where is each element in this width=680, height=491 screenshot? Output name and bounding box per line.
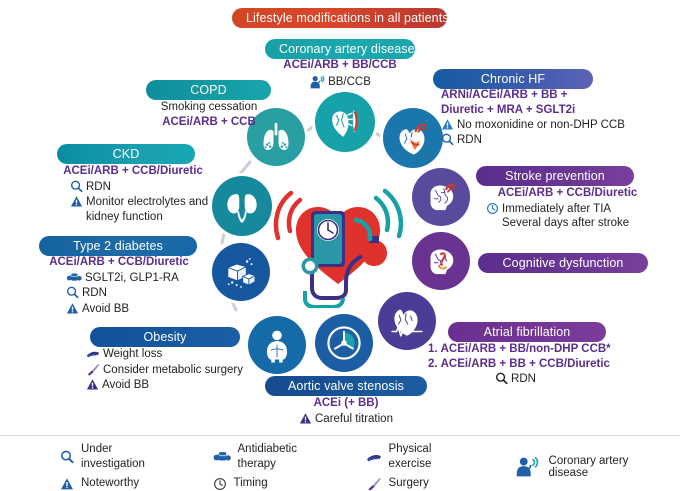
- heart-coronary-icon: [383, 108, 443, 168]
- block-atrial-fibrillation: 1. ACEi/ARB + BB/non-DHP CCB* 2. ACEi/AR…: [428, 342, 643, 387]
- ckd-note-2: Monitor electrolytes and kidney function: [86, 195, 216, 224]
- brain-cognitive-icon: [412, 232, 470, 290]
- pill-chronic-hf: Chronic HF: [433, 69, 593, 89]
- pill-cognitive-dysfunction: Cognitive dysfunction: [478, 253, 648, 273]
- block-stroke-prevention: ACEi/ARB + CCB/Diuretic Immediately afte…: [470, 186, 665, 231]
- cad-rx: ACEi/ARB + BB/CCB: [255, 58, 425, 73]
- obesity-note-3: Avoid BB: [102, 378, 149, 393]
- af-note-1: RDN: [511, 372, 536, 387]
- af-rx-2-number: 2.: [428, 357, 438, 372]
- avs-note-1: Careful titration: [315, 412, 393, 427]
- exercise-icon: [366, 450, 382, 464]
- t2d-rx: ACEi/ARB + CCB/Diuretic: [28, 255, 210, 270]
- aortic-valve-icon: [315, 314, 373, 372]
- cad-note-text: BB/CCB: [328, 75, 371, 90]
- pill-atrial-fibrillation: Atrial fibrillation: [448, 322, 606, 342]
- pill-aortic-valve-stenosis: Aortic valve stenosis: [265, 376, 427, 396]
- legend-label: Antidiabetic therapy: [238, 442, 338, 472]
- legend-item-antidiabetic-therapy: Antidiabetic therapy: [213, 442, 338, 472]
- af-rx-1-number: 1.: [428, 342, 438, 357]
- stroke-note-1: Immediately after TIA: [502, 202, 611, 217]
- pills-icon: [66, 271, 82, 284]
- obesity-note-1: Weight loss: [103, 347, 162, 362]
- pill-coronary-artery-disease: Coronary artery disease: [265, 39, 415, 59]
- t2d-note-3: Avoid BB: [82, 302, 129, 317]
- magnifier-icon: [495, 372, 508, 385]
- lifestyle-banner: Lifestyle modifications in all patients: [232, 8, 447, 28]
- pill-stroke-prevention: Stroke prevention: [476, 166, 634, 186]
- stroke-note-2: Several days after stroke: [502, 216, 629, 231]
- ckd-note-1: RDN: [86, 180, 111, 195]
- warning-triangle-icon: [441, 118, 454, 131]
- stroke-rx: ACEi/ARB + CCB/Diuretic: [470, 186, 665, 201]
- magnifier-icon: [60, 450, 74, 464]
- clock-icon: [486, 202, 499, 215]
- magnifier-icon: [70, 180, 83, 193]
- magnifier-icon: [66, 286, 79, 299]
- legend-item-physical-exercise: Physical exercise: [366, 442, 477, 472]
- pill-ckd: CKD: [57, 144, 195, 164]
- scalpel-icon: [86, 363, 100, 376]
- legend-label: Under investigation: [81, 442, 179, 472]
- legend-label: Physical exercise: [389, 442, 477, 472]
- pills-icon: [213, 450, 231, 464]
- ckd-rx: ACEi/ARB + CCB/Diuretic: [40, 164, 226, 179]
- cad-person-icon: [309, 75, 325, 90]
- chf-note-1: No moxonidine or non-DHP CCB: [457, 118, 625, 133]
- pill-obesity: Obesity: [90, 327, 240, 347]
- infographic-canvas: Lifestyle modifications in all patients …: [0, 0, 680, 484]
- copd-line-1: Smoking cessation: [120, 100, 298, 115]
- block-ckd: ACEi/ARB + CCB/Diuretic RDN Monitor elec…: [40, 164, 226, 224]
- legend: Under investigation Noteworthy: [0, 435, 680, 484]
- legend-label: Coronary artery disease: [549, 455, 671, 479]
- warning-triangle-icon: [66, 302, 79, 315]
- af-rx-1: ACEi/ARB + BB/non-DHP CCB*: [441, 342, 611, 357]
- af-rx-2: ACEi/ARB + BB + CCB/Diuretic: [441, 357, 610, 372]
- warning-triangle-icon: [299, 412, 312, 425]
- warning-triangle-icon: [86, 378, 99, 391]
- center-heart-bp-icon: [270, 178, 410, 308]
- obesity-note-2: Consider metabolic surgery: [103, 363, 243, 378]
- warning-triangle-icon: [70, 195, 83, 208]
- copd-rx: ACEi/ARB + CCB: [120, 115, 298, 130]
- block-obesity: Weight loss Consider metabolic surgery A…: [86, 347, 286, 393]
- block-coronary-artery-disease: ACEi/ARB + BB/CCB BB/CCB: [255, 58, 425, 90]
- heart-artery-icon: [315, 92, 375, 152]
- magnifier-icon: [441, 133, 454, 146]
- block-copd: Smoking cessation ACEi/ARB + CCB: [120, 100, 298, 129]
- pill-type-2-diabetes: Type 2 diabetes: [39, 236, 197, 256]
- exercise-icon: [86, 347, 100, 360]
- t2d-note-2: RDN: [82, 286, 107, 301]
- cad-person-icon: [515, 456, 539, 478]
- sugar-cubes-icon: [212, 243, 270, 301]
- block-type-2-diabetes: ACEi/ARB + CCB/Diuretic SGLT2i, GLP1-RA …: [28, 255, 210, 316]
- brain-stroke-icon: [412, 168, 470, 226]
- legend-item-under-investigation: Under investigation: [60, 442, 179, 472]
- block-chronic-hf: ARNi/ACEi/ARB + BB + Diuretic + MRA + SG…: [441, 88, 666, 147]
- pill-copd: COPD: [146, 80, 271, 100]
- chf-rx: ARNi/ACEi/ARB + BB + Diuretic + MRA + SG…: [441, 88, 606, 117]
- block-aortic-valve-stenosis: ACEi (+ BB) Careful titration: [256, 396, 436, 426]
- avs-rx: ACEi (+ BB): [256, 396, 436, 411]
- t2d-note-1: SGLT2i, GLP1-RA: [85, 271, 179, 286]
- chf-note-2: RDN: [457, 133, 482, 148]
